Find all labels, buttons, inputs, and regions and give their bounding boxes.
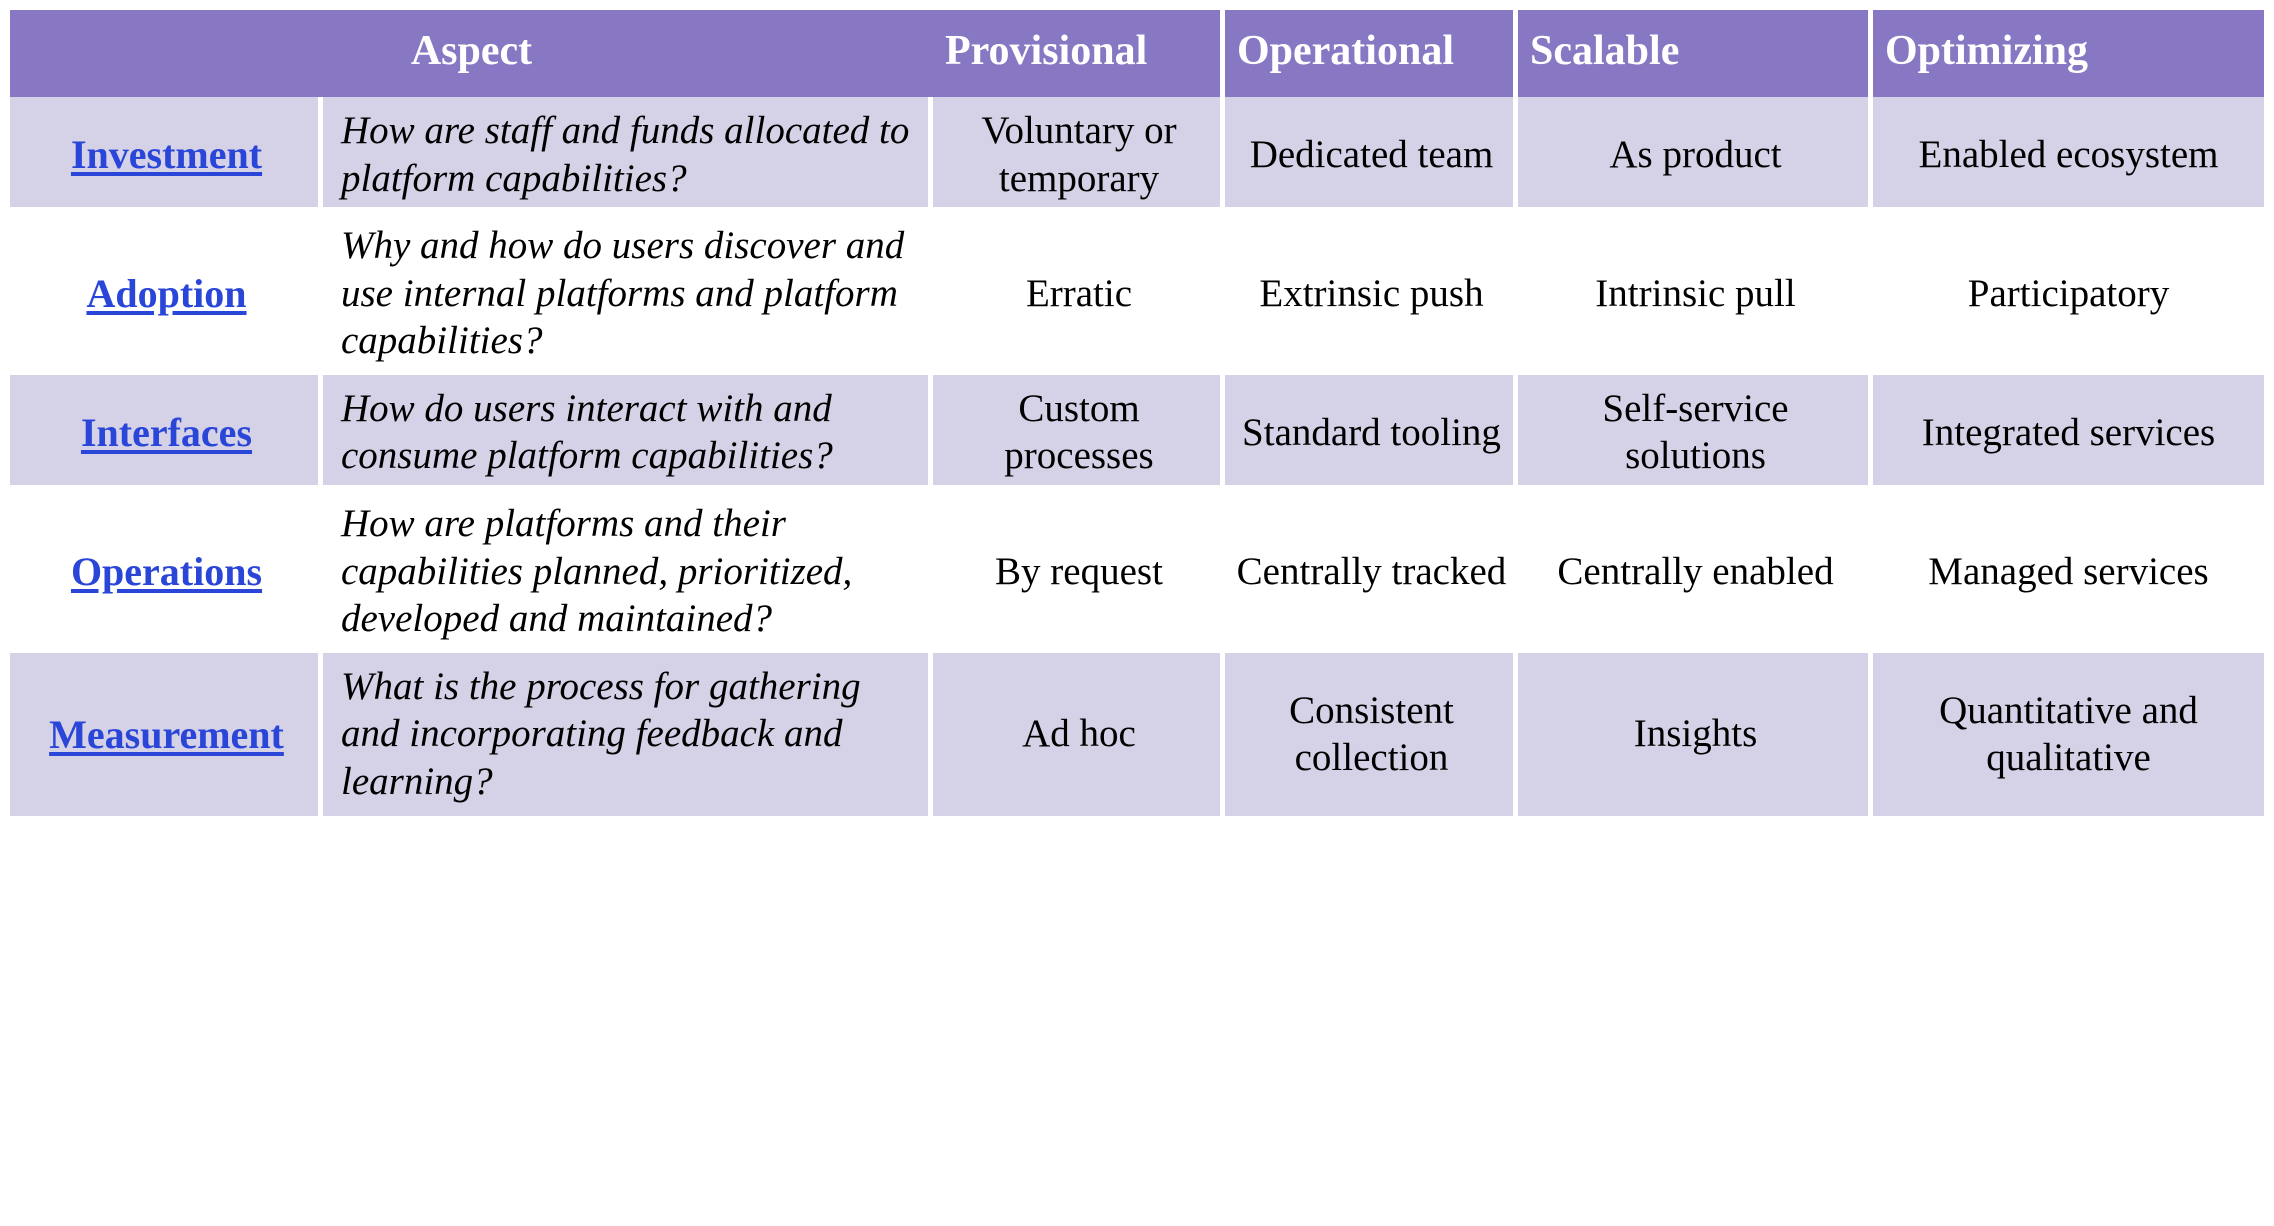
value-measurement-optimizing: Quantitative and qualitative [1873,653,2264,816]
aspect-cell-measurement: Measurement [10,653,323,816]
column-header-operational: Operational [1225,10,1518,97]
column-header-optimizing: Optimizing [1873,10,2264,97]
value-investment-provisional: Voluntary or temporary [933,97,1225,212]
value-interfaces-optimizing: Integrated services [1873,375,2264,490]
aspect-cell-interfaces: Interfaces [10,375,323,490]
table-row: Measurement What is the process for gath… [10,653,2264,816]
value-interfaces-scalable: Self-service solutions [1518,375,1873,490]
aspect-link-investment[interactable]: Investment [71,132,262,177]
table-row: Interfaces How do users interact with an… [10,375,2264,490]
table-body: Investment How are staff and funds alloc… [10,97,2264,816]
aspect-question-adoption: Why and how do users discover and use in… [323,212,933,375]
table-header: Aspect Provisional Operational Scalable … [10,10,2264,97]
value-adoption-scalable: Intrinsic pull [1518,212,1873,375]
table-row: Operations How are platforms and their c… [10,490,2264,653]
column-header-scalable: Scalable [1518,10,1873,97]
table-row: Adoption Why and how do users discover a… [10,212,2264,375]
value-investment-scalable: As product [1518,97,1873,212]
column-header-aspect: Aspect [10,10,933,97]
value-operations-optimizing: Managed services [1873,490,2264,653]
aspect-link-adoption[interactable]: Adoption [86,271,246,316]
header-row: Aspect Provisional Operational Scalable … [10,10,2264,97]
value-measurement-operational: Consistent collection [1225,653,1518,816]
aspect-link-operations[interactable]: Operations [71,549,262,594]
value-measurement-scalable: Insights [1518,653,1873,816]
aspect-cell-operations: Operations [10,490,323,653]
platform-maturity-table: Aspect Provisional Operational Scalable … [10,10,2264,816]
value-operations-scalable: Centrally enabled [1518,490,1873,653]
value-operations-provisional: By request [933,490,1225,653]
aspect-link-measurement[interactable]: Measurement [49,712,284,757]
aspect-cell-adoption: Adoption [10,212,323,375]
column-header-provisional: Provisional [933,10,1225,97]
value-adoption-provisional: Erratic [933,212,1225,375]
table-row: Investment How are staff and funds alloc… [10,97,2264,212]
aspect-question-investment: How are staff and funds allocated to pla… [323,97,933,212]
value-investment-operational: Dedicated team [1225,97,1518,212]
value-operations-operational: Centrally tracked [1225,490,1518,653]
aspect-link-interfaces[interactable]: Interfaces [81,410,252,455]
aspect-question-operations: How are platforms and their capabilities… [323,490,933,653]
value-interfaces-provisional: Custom processes [933,375,1225,490]
value-measurement-provisional: Ad hoc [933,653,1225,816]
aspect-question-measurement: What is the process for gathering and in… [323,653,933,816]
value-interfaces-operational: Standard tooling [1225,375,1518,490]
value-investment-optimizing: Enabled ecosystem [1873,97,2264,212]
value-adoption-operational: Extrinsic push [1225,212,1518,375]
aspect-question-interfaces: How do users interact with and consume p… [323,375,933,490]
aspect-cell-investment: Investment [10,97,323,212]
value-adoption-optimizing: Participatory [1873,212,2264,375]
